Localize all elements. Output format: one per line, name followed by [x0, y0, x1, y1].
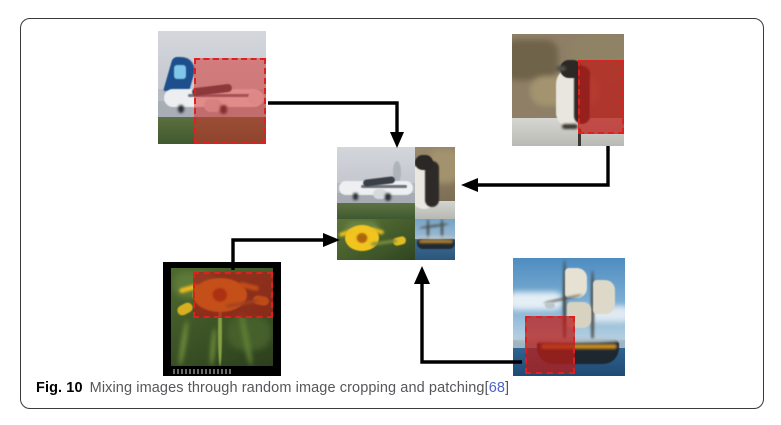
arrow-airplane-path [268, 103, 397, 134]
arrow-ship-path [422, 284, 522, 362]
figure-label: Fig. 10 [36, 380, 83, 396]
arrow-airplane-to-composite [268, 98, 408, 156]
penguin-beak [556, 66, 566, 71]
ship-sail-2 [593, 280, 615, 314]
penguin-source-image [512, 34, 624, 146]
mixed-composite-image [337, 147, 455, 260]
flower-watermark [173, 369, 231, 374]
figure-caption-text: Mixing images through random image cropp… [90, 380, 485, 396]
airplane-tail-logo [174, 65, 186, 79]
composite-airplane-grass [337, 203, 415, 219]
figure-diagram [0, 0, 781, 425]
arrow-flower-to-composite [228, 232, 346, 272]
airplane-gear-front [178, 105, 184, 113]
flower-crop-selection [193, 272, 273, 318]
ship-sail-1 [565, 268, 587, 298]
composite-penguin-head [415, 155, 433, 170]
ship-crop-selection [525, 316, 575, 374]
arrow-penguin-head [461, 178, 478, 192]
ship-source-image [513, 258, 625, 376]
arrow-ship-to-composite [398, 258, 526, 368]
arrow-airplane-head [390, 132, 404, 148]
arrow-penguin-to-composite [455, 146, 613, 192]
airplane-source-image [158, 31, 266, 144]
penguin-feet [562, 124, 578, 129]
composite-flower-center [357, 234, 367, 242]
ship-flag [545, 302, 555, 309]
composite-airplane-gear [353, 193, 358, 200]
flower-photo-inner [171, 268, 273, 366]
penguin-crop-selection [578, 60, 624, 134]
composite-airplane-gear-rear [385, 193, 391, 201]
penguin-rock-shadow-1 [512, 40, 558, 80]
arrow-flower-path [233, 240, 324, 270]
arrow-penguin-path [477, 146, 608, 185]
arrow-ship-head [414, 266, 430, 284]
arrow-flower-head [323, 233, 340, 247]
composite-ship-hull-stripe [419, 240, 453, 243]
figure-reference-link[interactable]: 68 [489, 380, 505, 396]
flower-source-image [163, 262, 281, 376]
composite-quadrant-airplane [337, 147, 415, 219]
composite-quadrant-penguin [415, 147, 455, 219]
airplane-crop-selection [194, 58, 266, 144]
figure-ref-close: ] [505, 380, 509, 396]
composite-ship-dock [415, 236, 455, 239]
composite-quadrant-ship [415, 219, 455, 260]
figure-caption: Fig. 10Mixing images through random imag… [36, 379, 509, 397]
composite-quadrant-flower [337, 219, 415, 260]
